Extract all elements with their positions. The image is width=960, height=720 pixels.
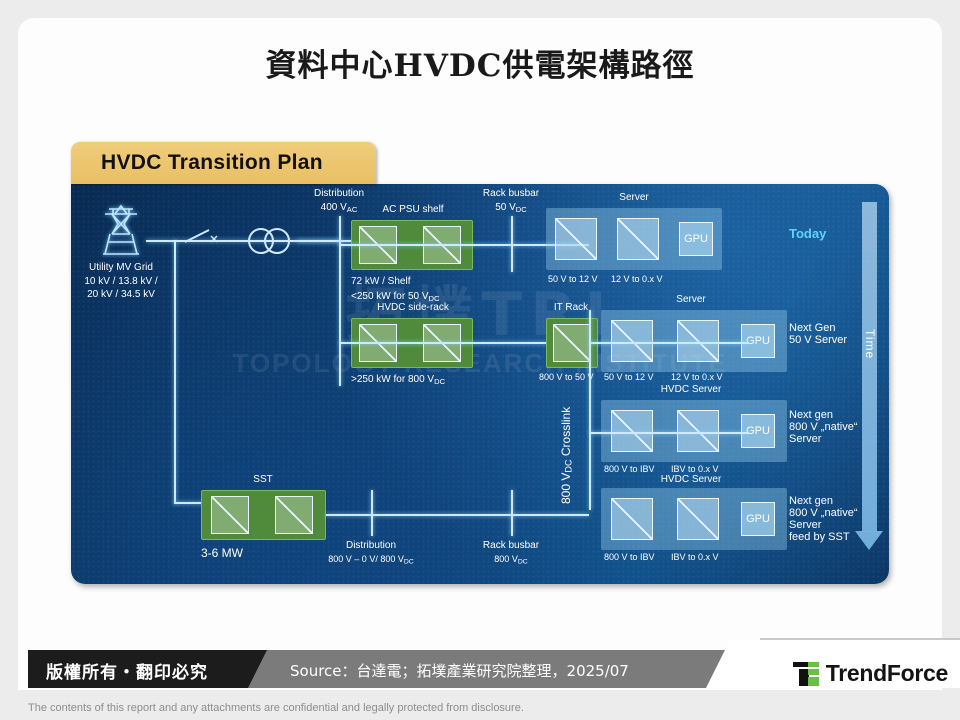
wire-row3-server <box>589 432 749 434</box>
stage-sub-next-gen-800v: 800 V „native“ Server <box>789 421 857 445</box>
label-rack-busbar-800-title: Rack busbar <box>483 540 539 551</box>
label-rack-busbar-800-value: 800 VDC <box>494 554 527 566</box>
label-ac-psu-note1: 72 kW / Shelf <box>351 276 410 287</box>
converter-row3-ibv-0xv <box>677 410 719 452</box>
label-hvdc-server-title-row3: HVDC Server <box>661 384 722 395</box>
wire-rack-busbar-800-bus <box>511 490 513 536</box>
converter-sst-2 <box>275 496 313 534</box>
switch-marker-upper <box>209 234 223 248</box>
gpu-row3: GPU <box>741 414 775 448</box>
wire-row4-bus <box>326 514 589 516</box>
label-crosslink-800vdc: 800 VDC Crosslink <box>559 314 573 504</box>
label-side-rack-note1: >250 kW for 800 VDC <box>351 374 445 386</box>
label-distribution-ac-sub: AC <box>347 205 358 214</box>
wire-row2-server <box>589 342 749 344</box>
label-distribution-ac-title: Distribution <box>314 188 364 199</box>
label-sst-title: SST <box>253 474 272 485</box>
label-utility-grid-line2: 20 kV / 34.5 kV <box>87 289 155 300</box>
figure-hvdc-transition-plan: HVDC Transition Plan 拓墣TRI TOPOLOGY RESE… <box>66 135 894 595</box>
trendforce-logo: TrendForce <box>793 660 948 687</box>
label-ac-psu-shelf-title: AC PSU shelf <box>382 204 443 215</box>
wire-crosslink-800v <box>589 310 591 510</box>
transmission-tower-icon <box>95 202 147 258</box>
label-rack-busbar-50-value: 50 VDC <box>495 202 527 214</box>
footer-source-text: Source：台達電；拓墣產業研究院整理，2025/07 <box>290 660 629 681</box>
label-row4-converter-1: 800 V to IBV <box>604 552 655 562</box>
transformer-icon <box>239 226 299 256</box>
stage-sub-next-gen-50v: 50 V Server <box>789 334 847 346</box>
label-server-title-row1: Server <box>619 192 648 203</box>
label-server-title-row2: Server <box>676 294 705 305</box>
slide: 資料中心HVDC供電架構路徑 HVDC Transition Plan 拓墣TR… <box>0 0 960 720</box>
label-distribution-dc-value: 800 V – 0 V/ 800 VDC <box>328 554 413 566</box>
label-it-rack-title: IT Rack <box>554 302 588 313</box>
brand-logo-area: TrendForce <box>730 640 960 688</box>
wire-rack-busbar-50-bus <box>511 216 513 272</box>
wire-distribution-dc-bus <box>371 490 373 536</box>
trendforce-wordmark: TrendForce <box>826 660 948 687</box>
label-row3-converter-2: IBV to 0.x V <box>671 464 719 474</box>
label-row1-converter-2: 12 V to 0.x V <box>611 274 663 284</box>
stage-label-today: Today <box>789 226 826 241</box>
converter-row2-12v-0xv <box>677 320 719 362</box>
label-rack-busbar-50-title: Rack busbar <box>483 188 539 199</box>
trendforce-mark-icon <box>793 662 819 686</box>
label-distribution-dc-title: Distribution <box>346 540 396 551</box>
gpu-row4: GPU <box>741 502 775 536</box>
label-row4-converter-2: IBV to 0.x V <box>671 552 719 562</box>
time-axis-arrow <box>862 202 877 532</box>
footer-disclaimer: The contents of this report and any atta… <box>28 702 524 714</box>
label-row1-converter-1: 50 V to 12 V <box>548 274 598 284</box>
label-utility-grid-line1: 10 kV / 13.8 kV / <box>84 276 157 287</box>
footer-copyright-text: 版權所有・翻印必究 <box>46 658 208 683</box>
label-time-axis: Time <box>863 329 877 359</box>
label-sst-power: 3-6 MW <box>201 546 243 560</box>
diagram-canvas: 拓墣TRI TOPOLOGY RESEARCH INSTITUTE <box>71 184 889 584</box>
label-utility-grid-name: Utility MV Grid <box>89 262 153 273</box>
converter-row2-50v-12v <box>611 320 653 362</box>
wire-distribution-ac-bus <box>339 216 341 386</box>
wire-mv-drop-to-sst <box>174 240 176 504</box>
label-row2-converter-2: 12 V to 0.x V <box>671 372 723 382</box>
gpu-row2: GPU <box>741 324 775 358</box>
label-row3-converter-1: 800 V to IBV <box>604 464 655 474</box>
stage-sub-next-gen-800v-sst: 800 V „native“ Server feed by SST <box>789 507 857 543</box>
stage-label-next-gen-50v: Next Gen 50 V Server <box>789 319 847 346</box>
slide-footer: 版權所有・翻印必究 Source：台達電；拓墣產業研究院整理，2025/07 T… <box>0 630 960 720</box>
label-distribution-ac-value: 400 VAC <box>321 202 358 214</box>
figure-caption: HVDC Transition Plan <box>71 142 376 184</box>
label-hvdc-side-rack-title: HVDC side-rack <box>377 302 449 313</box>
stage-label-next-gen-800v-sst: Next gen 800 V „native“ Server feed by S… <box>789 492 857 543</box>
converter-row1-12v-0xv <box>617 218 659 260</box>
converter-sst-1 <box>211 496 249 534</box>
converter-row4-ibv-0xv <box>677 498 719 540</box>
converter-row3-800v-ibv <box>611 410 653 452</box>
label-hvdc-server-title-row4: HVDC Server <box>661 474 722 485</box>
page-title: 資料中心HVDC供電架構路徑 <box>0 40 960 85</box>
stage-label-next-gen-800v: Next gen 800 V „native“ Server <box>789 406 857 445</box>
gpu-row1: GPU <box>679 222 713 256</box>
converter-row1-50v-12v <box>555 218 597 260</box>
converter-row4-800v-ibv <box>611 498 653 540</box>
label-row2-converter-1: 50 V to 12 V <box>604 372 654 382</box>
